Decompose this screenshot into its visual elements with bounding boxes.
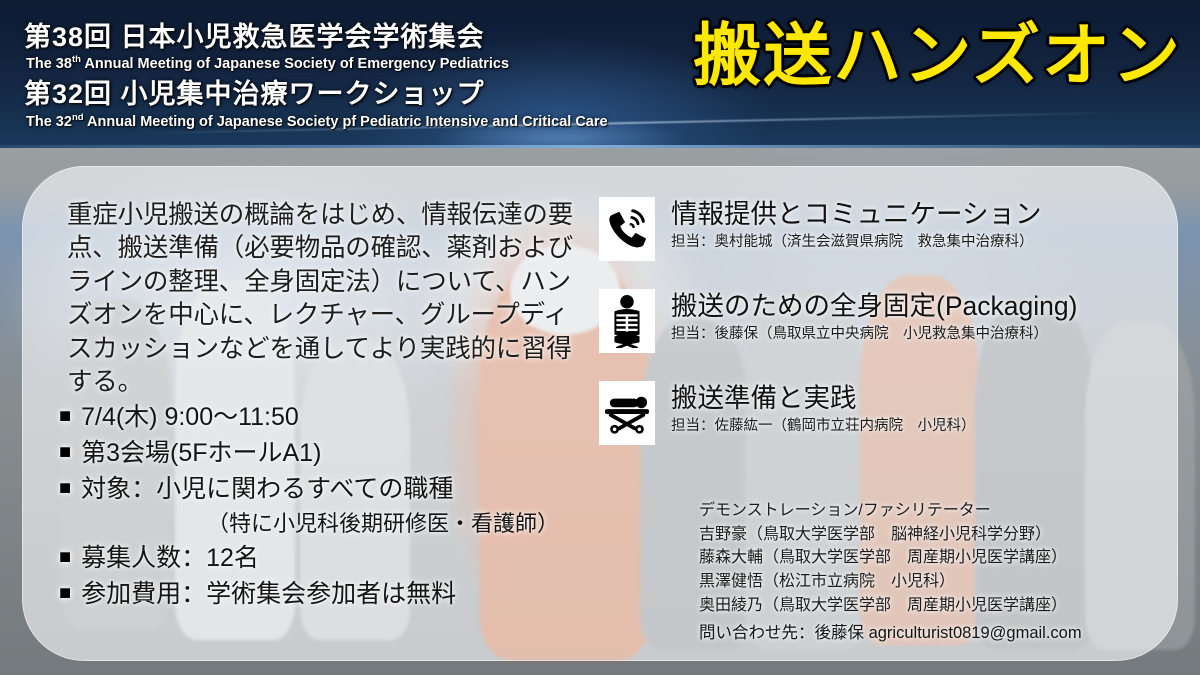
session-text: 搬送準備と実践 担当：佐藤紘一（鶴岡市立荘内病院 小児科） — [671, 381, 976, 438]
session-title: 搬送準備と実践 — [671, 383, 976, 413]
header-band: 第38回 日本小児救急医学会学術集会 The 38th Annual Meeti… — [0, 0, 1200, 148]
fact-item: ■募集人数：12名 — [59, 540, 599, 576]
sessions-list: 情報提供とコミュニケーション 担当：奥村能城（済生会滋賀県病院 救急集中治療科） — [599, 197, 1169, 473]
bullet-icon: ■ — [59, 471, 71, 507]
body-immobilization-icon — [599, 289, 655, 353]
session-item: 搬送のための全身固定(Packaging) 担当：後藤保（鳥取県立中央病院 小児… — [599, 289, 1169, 353]
facilitator-name: 藤森大輔（鳥取大学医学部 周産期小児医学講座） — [699, 546, 1169, 570]
bullet-icon: ■ — [59, 540, 71, 576]
fact-item: ■第3会場(5FホールA1) — [59, 435, 599, 471]
session-title: 情報提供とコミュニケーション — [671, 199, 1041, 229]
meeting-title-en-1-sup: th — [72, 54, 81, 65]
facilitator-name: 黒澤健悟（松江市立病院 小児科） — [699, 570, 1169, 594]
fact-subtext: （特に小児科後期研修医・看護師） — [207, 507, 599, 540]
bullet-icon: ■ — [59, 576, 71, 612]
meeting-title-en-2: The 32nd Annual Meeting of Japanese Soci… — [26, 112, 608, 131]
meeting-title-en-2-pre: The 32 — [26, 114, 72, 130]
header-titles: 第38回 日本小児救急医学会学術集会 The 38th Annual Meeti… — [24, 22, 608, 137]
fact-text: 第3会場(5FホールA1) — [81, 435, 321, 471]
facilitator-name: 奥田綾乃（鳥取大学医学部 周産期小児医学講座） — [699, 594, 1169, 618]
meeting-title-en-1-pre: The 38 — [26, 56, 72, 72]
session-charge: 担当：佐藤紘一（鶴岡市立荘内病院 小児科） — [671, 416, 976, 438]
session-charge: 担当：後藤保（鳥取県立中央病院 小児救急集中治療科） — [671, 324, 1077, 346]
facilitator-name: 吉野豪（鳥取大学医学部 脳神経小児科学分野） — [699, 523, 1169, 547]
meeting-title-jp-2: 第32回 小児集中治療ワークショップ — [24, 79, 608, 109]
fact-text: 7/4(木) 9:00〜11:50 — [81, 399, 299, 435]
bullet-icon: ■ — [59, 399, 71, 435]
fact-text: 参加費用：学術集会参加者は無料 — [81, 576, 456, 612]
meeting-title-jp-1: 第38回 日本小児救急医学会学術集会 — [24, 22, 608, 52]
session-text: 情報提供とコミュニケーション 担当：奥村能城（済生会滋賀県病院 救急集中治療科） — [671, 197, 1041, 254]
session-text: 搬送のための全身固定(Packaging) 担当：後藤保（鳥取県立中央病院 小児… — [671, 289, 1077, 346]
poster: 第38回 日本小児救急医学会学術集会 The 38th Annual Meeti… — [0, 0, 1200, 675]
bullet-icon: ■ — [59, 435, 71, 471]
session-charge: 担当：奥村能城（済生会滋賀県病院 救急集中治療科） — [671, 232, 1041, 254]
fact-item: ■参加費用：学術集会参加者は無料 — [59, 576, 599, 612]
facts-list: ■7/4(木) 9:00〜11:50 ■第3会場(5FホールA1) ■対象：小児… — [59, 399, 599, 612]
fact-item: ■7/4(木) 9:00〜11:50 — [59, 399, 599, 435]
hero-title: 搬送ハンズオン — [693, 22, 1182, 90]
meeting-title-en-2-sup: nd — [72, 112, 84, 123]
session-title: 搬送のための全身固定(Packaging) — [671, 291, 1077, 321]
fact-item: ■対象：小児に関わるすべての職種 （特に小児科後期研修医・看護師） — [59, 471, 599, 540]
meeting-title-en-1: The 38th Annual Meeting of Japanese Soci… — [26, 54, 608, 73]
session-item: 搬送準備と実践 担当：佐藤紘一（鶴岡市立荘内病院 小児科） — [599, 381, 1169, 445]
session-item: 情報提供とコミュニケーション 担当：奥村能城（済生会滋賀県病院 救急集中治療科） — [599, 197, 1169, 261]
fact-text: 募集人数：12名 — [81, 540, 259, 576]
fact-text: 対象：小児に関わるすべての職種 — [81, 471, 453, 507]
meeting-title-en-2-post: Annual Meeting of Japanese Society pf Pe… — [84, 114, 608, 130]
stretcher-icon — [599, 381, 655, 445]
phone-ringing-icon — [599, 197, 655, 261]
meeting-title-en-1-post: Annual Meeting of Japanese Society of Em… — [81, 56, 509, 72]
demonstration-facilitators: デモンストレーション/ファシリテーター 吉野豪（鳥取大学医学部 脳神経小児科学分… — [699, 499, 1169, 617]
lead-paragraph: 重症小児搬送の概論をはじめ、情報伝達の要点、搬送準備（必要物品の確認、薬剤および… — [67, 199, 587, 399]
content-panel: 重症小児搬送の概論をはじめ、情報伝達の要点、搬送準備（必要物品の確認、薬剤および… — [22, 166, 1178, 661]
contact-line: 問い合わせ先：後藤保 agriculturist0819@gmail.com — [699, 619, 1082, 643]
demo-heading: デモンストレーション/ファシリテーター — [699, 499, 1169, 523]
